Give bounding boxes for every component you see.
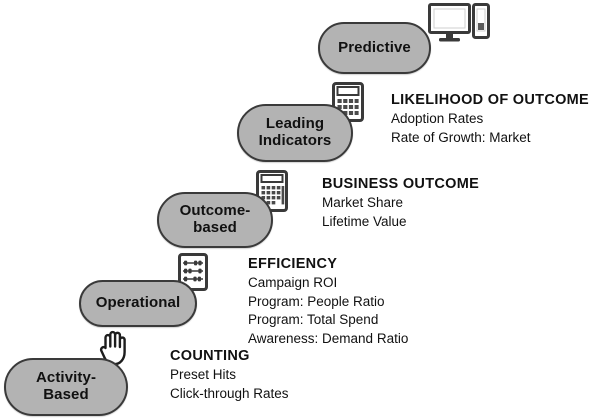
annotation-title: LIKELIHOOD OF OUTCOME [391, 92, 589, 108]
annotation-item: Awareness: Demand Ratio [248, 330, 408, 349]
annotation-item: Click-through Rates [170, 385, 289, 404]
annotation-title: BUSINESS OUTCOME [322, 176, 479, 192]
stage-pill-operational[interactable]: Operational [79, 280, 197, 327]
stage-label: Predictive [332, 40, 417, 57]
annotation-item: Rate of Growth: Market [391, 129, 589, 148]
stage-label: Activity- Based [30, 370, 102, 404]
stage-label: Operational [90, 295, 186, 312]
stage-pill-leading-indicators[interactable]: Leading Indicators [237, 104, 353, 162]
annotation-item: Campaign ROI [248, 274, 408, 293]
annotation-counting: COUNTING Preset Hits Click-through Rates [170, 348, 289, 403]
stage-label: Outcome- based [174, 203, 257, 237]
annotation-business-outcome: BUSINESS OUTCOME Market Share Lifetime V… [322, 176, 479, 231]
stage-pill-predictive[interactable]: Predictive [318, 22, 431, 74]
annotation-title: EFFICIENCY [248, 256, 408, 272]
annotation-item: Lifetime Value [322, 213, 479, 232]
desktop-monitor-and-smartphone-icon [428, 2, 490, 44]
stage-pill-outcome-based[interactable]: Outcome- based [157, 192, 273, 248]
maturity-staircase-diagram: Predictive Leading Indicators Outcome- b… [0, 0, 600, 420]
annotation-item: Program: People Ratio [248, 293, 408, 312]
annotation-efficiency: EFFICIENCY Campaign ROI Program: People … [248, 256, 408, 349]
annotation-item: Program: Total Spend [248, 311, 408, 330]
stage-label: Leading Indicators [253, 116, 338, 150]
annotation-item: Market Share [322, 194, 479, 213]
annotation-likelihood-of-outcome: LIKELIHOOD OF OUTCOME Adoption Rates Rat… [391, 92, 589, 147]
annotation-title: COUNTING [170, 348, 289, 364]
annotation-item: Preset Hits [170, 366, 289, 385]
annotation-item: Adoption Rates [391, 110, 589, 129]
stage-pill-activity-based[interactable]: Activity- Based [4, 358, 128, 416]
